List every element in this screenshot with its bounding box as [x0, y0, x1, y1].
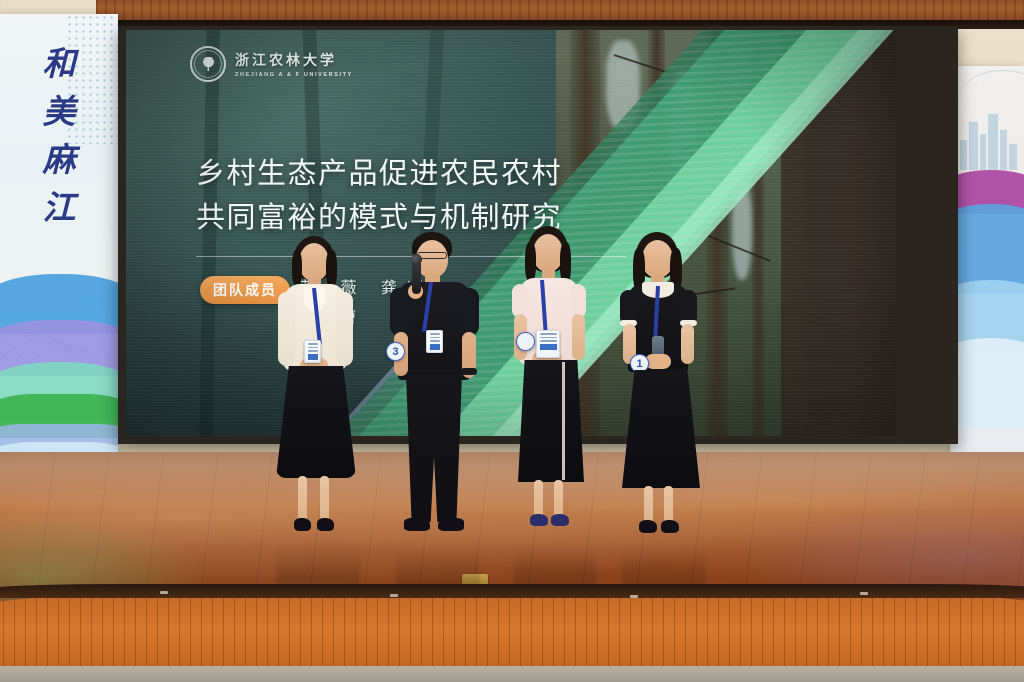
student-3	[502, 226, 612, 538]
student-2-trousers	[406, 374, 462, 522]
student-2-sleeve-right	[460, 288, 479, 336]
student-3-sleeve-right	[570, 284, 586, 318]
edge-stud	[860, 592, 868, 595]
student-2-shoe-right	[438, 518, 464, 531]
student-3-hair-left	[525, 242, 536, 282]
student-3-id-card	[536, 330, 560, 358]
building-1	[960, 140, 967, 170]
id-line	[540, 333, 557, 335]
student-2-number-badge: 3	[386, 342, 405, 361]
emblem-tree-glyph	[201, 57, 216, 71]
student-1	[268, 236, 378, 536]
student-1-skirt	[276, 366, 356, 478]
edge-stud	[630, 595, 638, 598]
student-2-id-card	[426, 330, 443, 353]
student-4-skirt	[622, 370, 700, 488]
id-line	[308, 347, 318, 349]
student-3-number-badge	[516, 332, 535, 351]
building-5	[1000, 130, 1007, 170]
student-4: 1	[612, 232, 722, 544]
right-band-pale	[950, 338, 1024, 428]
student-3-sleeve-left	[512, 284, 528, 318]
student-2-sleeve-left	[390, 288, 409, 336]
university-emblem-icon	[190, 46, 226, 82]
right-banner	[950, 66, 1024, 476]
id-line	[308, 343, 318, 345]
student-1-reflection	[276, 536, 360, 584]
student-2-shoe-left	[404, 518, 430, 531]
university-name-en: ZHEJIANG A & F UNIVERSITY	[235, 72, 353, 78]
student-4-shoe-left	[639, 520, 657, 533]
student-1-head	[299, 243, 329, 281]
student-4-leg-right	[664, 486, 673, 524]
student-1-hair-left	[292, 250, 302, 286]
banner-color-bands	[0, 254, 118, 484]
student-3-shoe-right	[551, 514, 569, 526]
student-1-shoe-left	[294, 518, 311, 531]
student-3-head	[533, 234, 563, 272]
student-1-hair-right	[326, 250, 337, 288]
student-3-shoe-left	[530, 514, 548, 526]
id-line	[540, 340, 557, 342]
edge-stud	[160, 591, 168, 594]
left-banner: 和美麻江	[0, 14, 118, 484]
banner-calligraphy-text: 和美麻江	[30, 40, 88, 232]
student-1-leg-right	[320, 476, 329, 522]
skyline-icon	[956, 100, 1022, 170]
id-bar	[540, 344, 557, 350]
building-6	[1009, 144, 1017, 170]
slide-title: 乡村生态产品促进农民农村 共同富裕的模式与机制研究	[196, 152, 716, 240]
id-line	[540, 337, 557, 339]
floor-front-carpet-strip	[0, 666, 1024, 682]
id-line	[430, 337, 440, 339]
student-3-leg-right	[554, 480, 563, 518]
student-1-id-card	[304, 340, 321, 363]
slide-title-line-1: 乡村生态产品促进农民农村	[196, 152, 716, 196]
university-logo: 浙江农林大学 ZHEJIANG A & F UNIVERSITY	[190, 46, 353, 82]
university-name-cn: 浙江农林大学	[235, 50, 353, 70]
student-3-reflection	[514, 538, 596, 586]
valance-wood-grain	[96, 0, 1024, 22]
building-3	[980, 134, 986, 170]
student-1-leg-left	[298, 476, 307, 522]
id-line	[430, 333, 440, 335]
id-bar	[430, 344, 440, 350]
presentation-stage-photo: 和美麻江	[0, 0, 1024, 682]
student-1-arm-right	[336, 292, 353, 366]
student-2-wristwatch	[461, 368, 477, 375]
student-1-arm-left	[278, 292, 295, 366]
id-line	[430, 340, 440, 342]
id-bar	[308, 354, 318, 360]
student-4-reflection	[622, 540, 706, 588]
id-line	[308, 350, 318, 352]
student-2: 3	[388, 232, 498, 542]
edge-stud	[390, 594, 398, 597]
stage-edge-lip	[0, 584, 1024, 598]
student-1-shoe-right	[317, 518, 334, 531]
student-2-reflection	[396, 540, 480, 590]
student-3-skirt	[518, 360, 584, 482]
university-name-block: 浙江农林大学 ZHEJIANG A & F UNIVERSITY	[235, 50, 353, 78]
wooden-valance	[96, 0, 1024, 22]
student-3-skirt-stripe	[562, 362, 565, 480]
microphone-head-icon	[411, 254, 422, 265]
student-3-forearm-right	[572, 314, 585, 360]
student-4-shoe-right	[661, 520, 679, 533]
student-4-leg-left	[644, 486, 653, 524]
building-4	[988, 114, 998, 170]
building-2	[969, 122, 978, 170]
student-3-leg-left	[534, 480, 543, 518]
microphone[interactable]	[412, 260, 421, 294]
student-4-forearm-right	[681, 324, 694, 364]
student-4-head	[642, 240, 673, 278]
